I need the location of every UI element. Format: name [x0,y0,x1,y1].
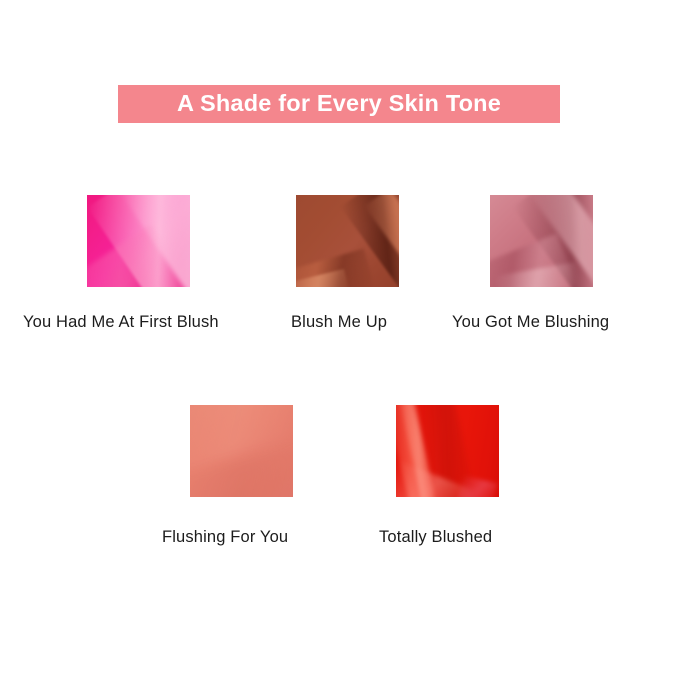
swatch-totally-blushed[interactable] [396,405,499,497]
shade-label-you-had-me-at-first-blush: You Had Me At First Blush [23,314,219,331]
shade-item-blush-me-up[interactable] [296,195,399,287]
shade-label-blush-me-up: Blush Me Up [291,314,387,331]
swatch-base-color [490,195,593,287]
shade-item-you-got-me-blushing[interactable] [490,195,593,287]
swatch-base-color [296,195,399,287]
swatch-flushing-for-you[interactable] [190,405,293,497]
swatch-base-color [190,405,293,497]
shade-item-you-had-me-at-first-blush[interactable] [87,195,190,287]
shade-item-flushing-for-you[interactable] [190,405,293,497]
swatch-you-got-me-blushing[interactable] [490,195,593,287]
product-shade-card: A Shade for Every Skin Tone You Had Me A… [0,0,679,679]
shade-label-you-got-me-blushing: You Got Me Blushing [452,314,609,331]
shade-item-totally-blushed[interactable] [396,405,499,497]
swatch-you-had-me-at-first-blush[interactable] [87,195,190,287]
swatch-base-color [396,405,499,497]
shade-label-totally-blushed: Totally Blushed [379,529,492,546]
shade-label-flushing-for-you: Flushing For You [162,529,288,546]
heading-banner: A Shade for Every Skin Tone [118,85,560,123]
page-title: A Shade for Every Skin Tone [177,92,501,116]
swatch-base-color [87,195,190,287]
swatch-blush-me-up[interactable] [296,195,399,287]
